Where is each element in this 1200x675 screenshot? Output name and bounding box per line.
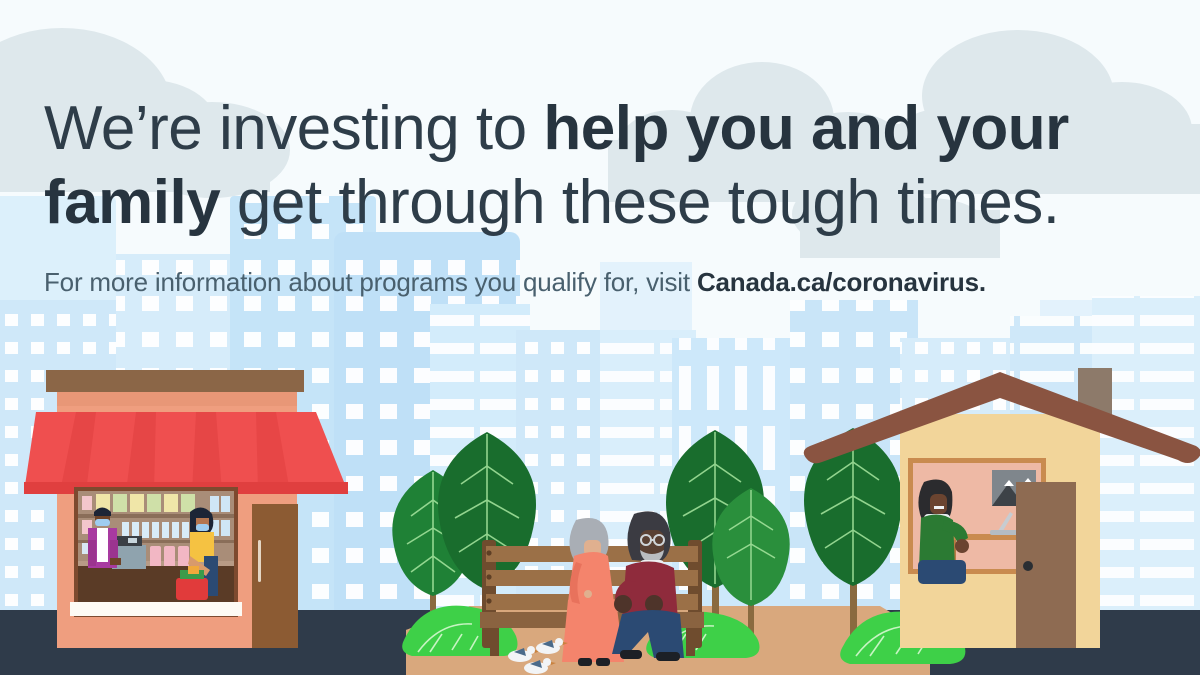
window-sill [70,602,242,616]
customer-mask [196,524,209,531]
page-title: We’re investing to help you and your fam… [44,92,1154,240]
store-door-handle [258,540,261,582]
headline-part1: We’re investing to [44,94,543,163]
covid-support-banner: We’re investing to help you and your fam… [0,0,1200,675]
subline-part1: For more information about programs you … [44,267,697,297]
shopping-basket [176,578,208,600]
laptop-base [990,530,1020,535]
canada-ca-link[interactable]: Canada.ca/coronavirus. [697,267,986,297]
shop-interior [78,491,234,603]
headline-part2: get through these tough times. [220,168,1059,237]
subtitle: For more information about programs you … [44,266,1154,298]
door-knob [1023,561,1033,571]
cashier-mask [95,519,110,526]
store-cornice [46,370,304,392]
person-jeans [918,560,966,584]
text-block: We’re investing to help you and your fam… [44,92,1154,298]
